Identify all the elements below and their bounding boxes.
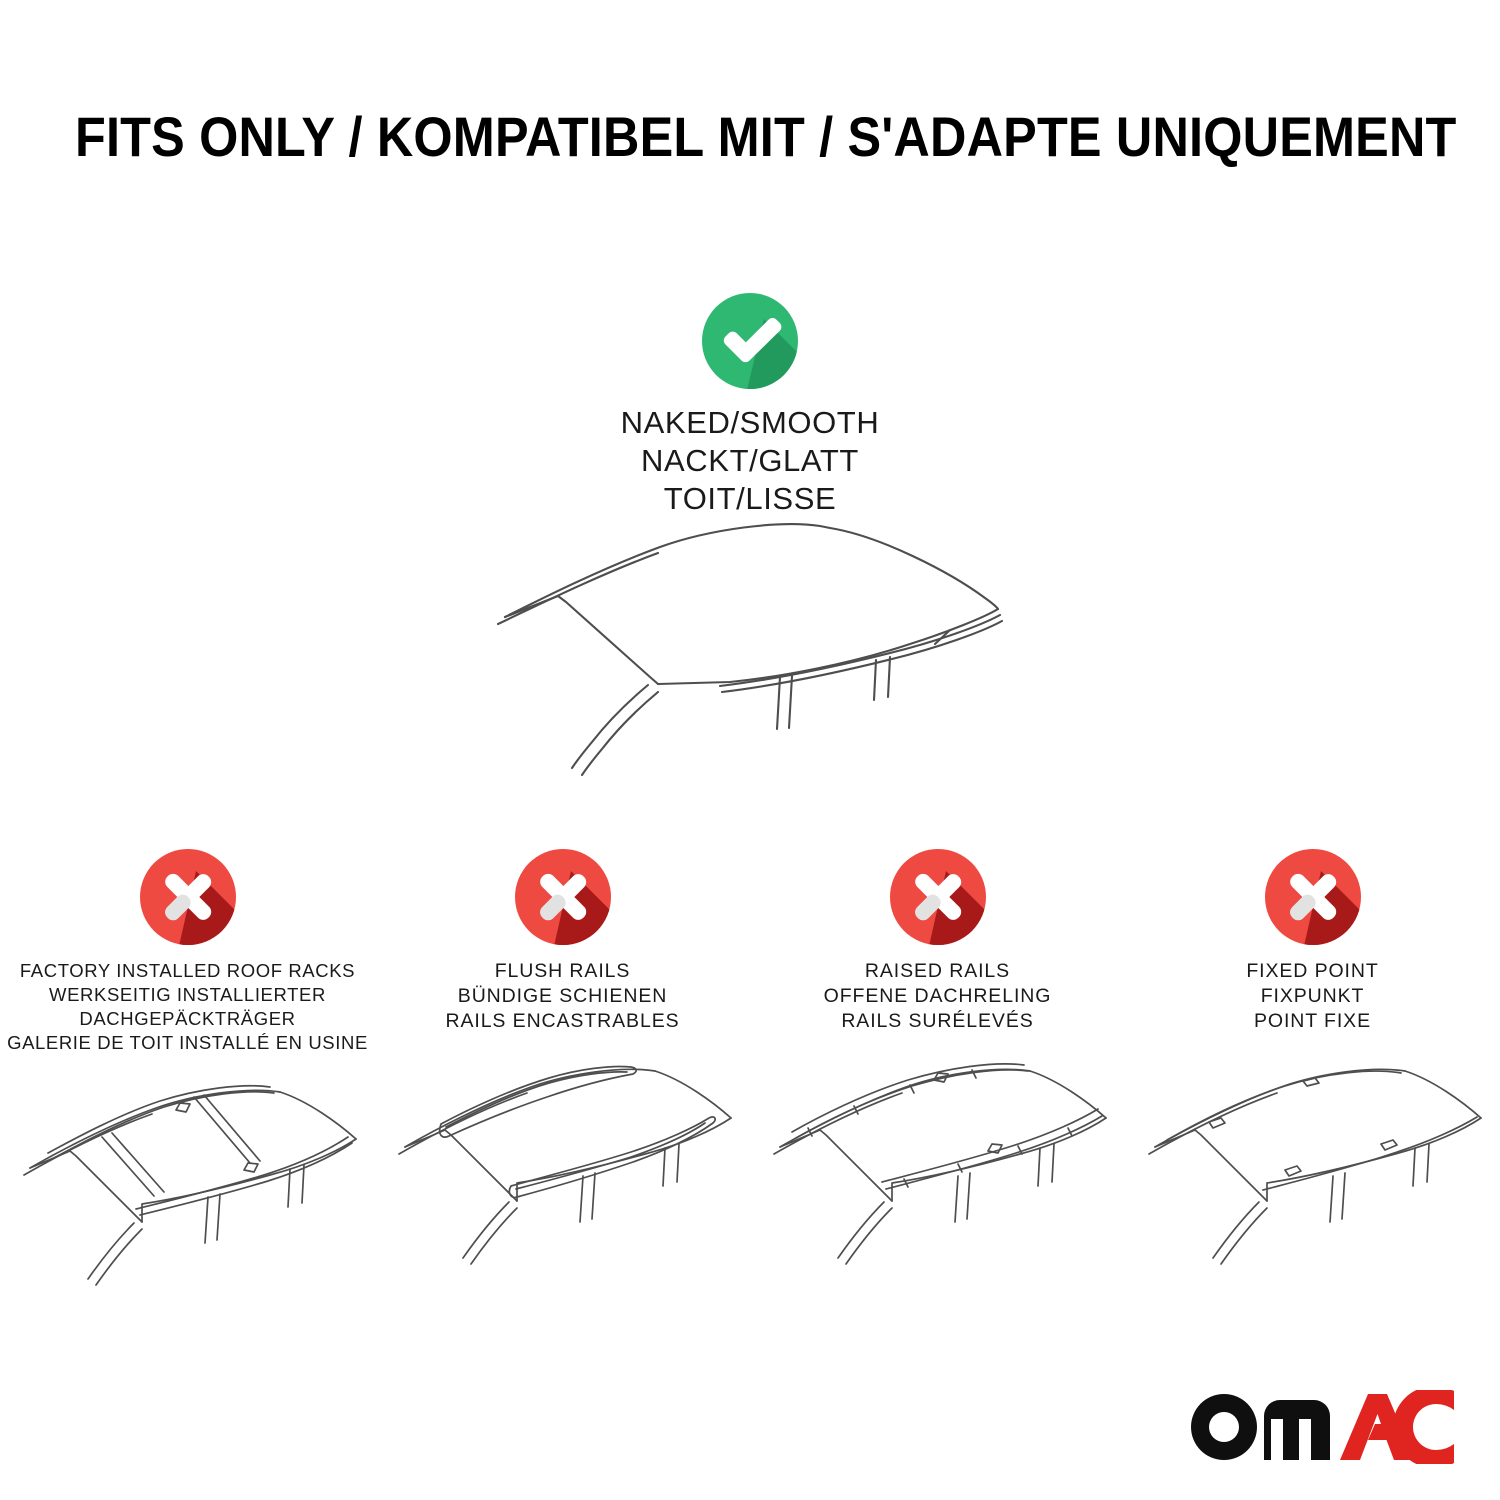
check-circle-icon — [701, 292, 799, 390]
car-roof-naked-smooth-illustration — [480, 514, 1020, 784]
car-roof-factory-roof-racks-illustration — [0, 1073, 375, 1323]
cross-circle-icon — [889, 848, 987, 946]
not-compatible-label: RAISED RAILS OFFENE DACHRELING RAILS SUR… — [750, 959, 1125, 1034]
label-line-de: FIXPUNKT — [1125, 984, 1500, 1009]
cross-circle-icon — [139, 848, 237, 946]
not-compatible-item-fixed-point: FIXED POINT FIXPUNKT POINT FIXE — [1125, 848, 1500, 1302]
cross-circle-icon — [514, 848, 612, 946]
not-compatible-label: FACTORY INSTALLED ROOF RACKS WERKSEITIG … — [0, 959, 375, 1055]
compatible-label-line-de: NACKT/GLATT — [420, 442, 1080, 480]
cross-circle-icon — [1264, 848, 1362, 946]
label-line-en: FLUSH RAILS — [375, 959, 750, 984]
not-compatible-label: FLUSH RAILS BÜNDIGE SCHIENEN RAILS ENCAS… — [375, 959, 750, 1034]
car-roof-fixed-point-illustration — [1125, 1052, 1500, 1302]
not-compatible-row: FACTORY INSTALLED ROOF RACKS WERKSEITIG … — [0, 848, 1500, 1323]
label-line-fr: POINT FIXE — [1125, 1009, 1500, 1034]
label-line-fr: GALERIE DE TOIT INSTALLÉ EN USINE — [0, 1031, 375, 1055]
page-title: FITS ONLY / KOMPATIBEL MIT / S'ADAPTE UN… — [75, 104, 1425, 169]
label-line-fr: RAILS SURÉLEVÉS — [750, 1009, 1125, 1034]
not-compatible-label: FIXED POINT FIXPUNKT POINT FIXE — [1125, 959, 1500, 1034]
not-compatible-item-raised-rails: RAISED RAILS OFFENE DACHRELING RAILS SUR… — [750, 848, 1125, 1302]
compatible-section: NAKED/SMOOTH NACKT/GLATT TOIT/LISSE — [420, 292, 1080, 518]
omac-logo — [1188, 1390, 1458, 1464]
compatible-label-line-en: NAKED/SMOOTH — [420, 404, 1080, 442]
car-roof-flush-rails-illustration — [375, 1052, 750, 1302]
label-line-en: FACTORY INSTALLED ROOF RACKS — [0, 959, 375, 983]
label-line-de-2: DACHGEPÄCKTRÄGER — [0, 1007, 375, 1031]
car-roof-raised-rails-illustration — [750, 1052, 1125, 1302]
label-line-de: OFFENE DACHRELING — [750, 984, 1125, 1009]
label-line-fr: RAILS ENCASTRABLES — [375, 1009, 750, 1034]
compatible-label: NAKED/SMOOTH NACKT/GLATT TOIT/LISSE — [420, 404, 1080, 518]
not-compatible-item-flush-rails: FLUSH RAILS BÜNDIGE SCHIENEN RAILS ENCAS… — [375, 848, 750, 1302]
label-line-en: FIXED POINT — [1125, 959, 1500, 984]
label-line-de-1: WERKSEITIG INSTALLIERTER — [0, 983, 375, 1007]
label-line-en: RAISED RAILS — [750, 959, 1125, 984]
label-line-de: BÜNDIGE SCHIENEN — [375, 984, 750, 1009]
compatible-label-line-fr: TOIT/LISSE — [420, 480, 1080, 518]
not-compatible-item-factory-roof-racks: FACTORY INSTALLED ROOF RACKS WERKSEITIG … — [0, 848, 375, 1323]
